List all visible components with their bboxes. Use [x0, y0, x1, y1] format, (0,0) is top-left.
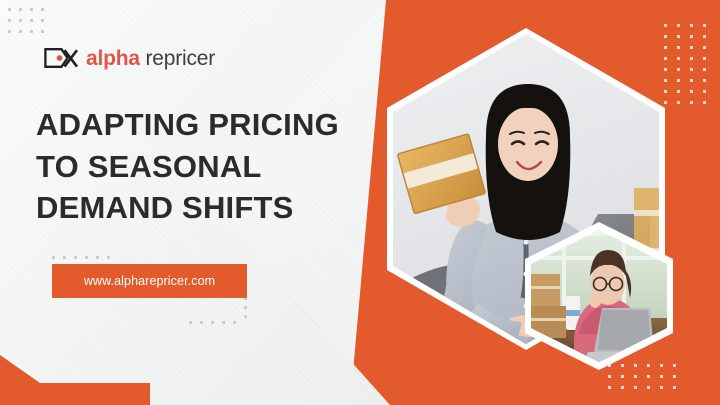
- brand-name-secondary: repricer: [146, 47, 216, 70]
- website-url-button[interactable]: www.alpharepricer.com: [52, 264, 247, 298]
- secondary-hexagon-svg: [518, 222, 680, 370]
- headline-line-3: DEMAND SHIFTS: [36, 187, 386, 229]
- headline-line-2: TO SEASONAL: [36, 146, 386, 188]
- poster-canvas: alpha repricer ADAPTING PRICING TO SEASO…: [0, 0, 720, 405]
- headline-line-1: ADAPTING PRICING: [36, 104, 386, 146]
- price-tag-x-icon: [44, 47, 78, 69]
- brand-name: alpha repricer: [86, 48, 215, 69]
- brand-name-primary: alpha: [86, 47, 140, 70]
- secondary-hexagon-image: [518, 222, 680, 370]
- brand-logo[interactable]: alpha repricer: [44, 47, 215, 69]
- headline: ADAPTING PRICING TO SEASONAL DEMAND SHIF…: [36, 104, 386, 229]
